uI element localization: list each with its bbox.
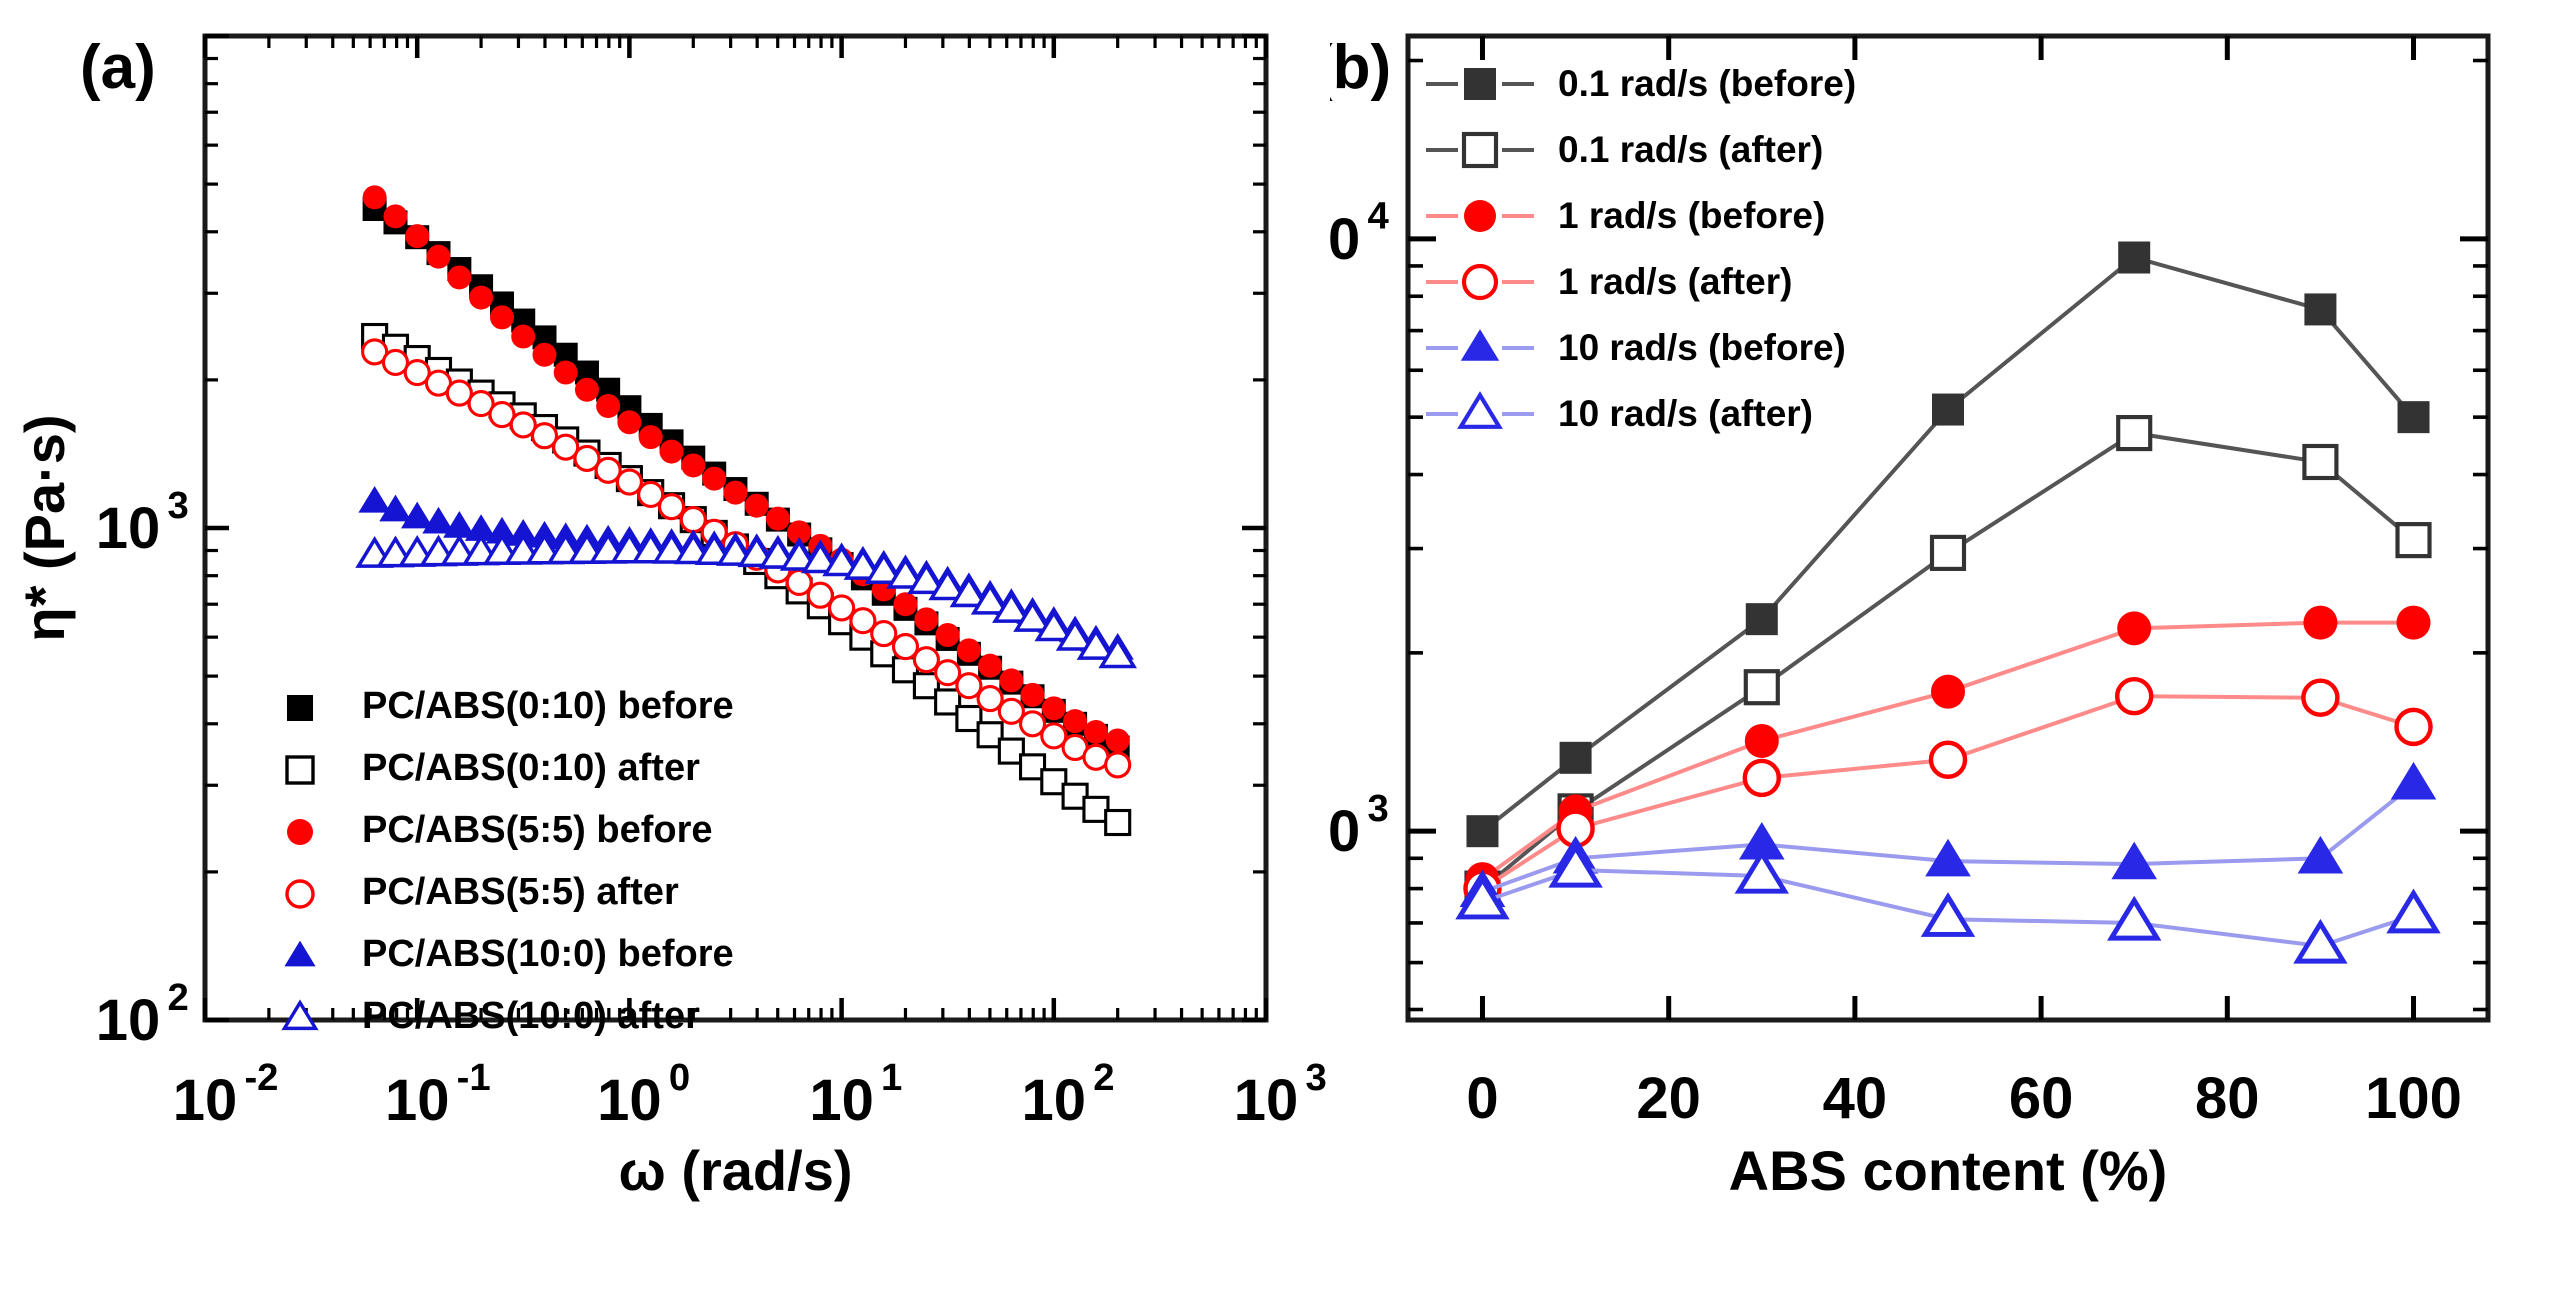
point [1932, 394, 1964, 426]
legend-marker-a-5 [284, 1003, 315, 1029]
series-2-a [363, 185, 1130, 752]
svg-text:10: 10 [1330, 799, 1360, 864]
svg-text:3: 3 [167, 484, 188, 527]
legend-label-b-2: 1 rad/s (before) [1558, 195, 1825, 236]
legend-marker-b-1 [1464, 134, 1496, 166]
point [2398, 401, 2430, 433]
point [2304, 446, 2336, 478]
point [978, 687, 1002, 711]
point [1042, 696, 1066, 720]
point [1746, 671, 1778, 703]
point [426, 245, 450, 269]
legend-label-b-4: 10 rad/s (before) [1558, 327, 1846, 368]
x-tick-labels-b: 020406080100 [1466, 1066, 2462, 1131]
legend-marker-b-4 [1461, 329, 1499, 361]
legend-label-b-3: 1 rad/s (after) [1558, 261, 1792, 302]
x-tick-a-4: 102 [1022, 1056, 1115, 1133]
point [2391, 893, 2437, 931]
point [2304, 293, 2336, 325]
data-series-a [358, 185, 1133, 834]
point [1021, 683, 1045, 707]
x-tick-a-2: 100 [597, 1056, 690, 1133]
point [469, 286, 493, 310]
point [957, 638, 981, 662]
svg-text:10: 10 [1022, 1068, 1087, 1133]
series-4-b [1460, 762, 2437, 907]
panel-b-label: (b) [1330, 33, 1391, 102]
point [914, 648, 938, 672]
point [1746, 603, 1778, 635]
point [2117, 611, 2151, 645]
svg-text:10: 10 [385, 1068, 450, 1133]
legend-marker-a-4 [284, 941, 315, 967]
point [978, 654, 1002, 678]
legend-label-a-2: PC/ABS(5:5) before [362, 809, 713, 851]
legend-label-a-3: PC/ABS(5:5) after [362, 871, 679, 913]
panel-b-svg: (b)020406080100103104ABS content (%)η* (… [1330, 0, 2550, 1302]
svg-text:10: 10 [1330, 207, 1360, 272]
point [447, 265, 471, 289]
legend-marker-b-3 [1464, 266, 1496, 298]
point [872, 622, 896, 646]
legend-marker-a-1 [287, 757, 313, 783]
point [2111, 901, 2157, 939]
legend-marker-a-3 [287, 881, 313, 907]
point [957, 674, 981, 698]
svg-text:3: 3 [1367, 787, 1388, 830]
svg-text:-2: -2 [244, 1056, 278, 1099]
point [490, 305, 514, 329]
panel-b: (b)020406080100103104ABS content (%)η* (… [1330, 0, 2550, 1302]
point [893, 592, 917, 616]
svg-text:4: 4 [1367, 195, 1389, 238]
figure-container: (a)10-210-1100101102103102103ω (rad/s)η*… [0, 0, 2550, 1302]
panel-a: (a)10-210-1100101102103102103ω (rad/s)η*… [0, 0, 1330, 1302]
legend-a: PC/ABS(0:10) beforePC/ABS(0:10) afterPC/… [284, 685, 733, 1037]
point [405, 224, 429, 248]
svg-text:10: 10 [96, 988, 161, 1053]
point [532, 343, 556, 367]
point [1745, 761, 1779, 795]
y-tick-labels-b: 103104 [1330, 195, 1389, 865]
point [575, 378, 599, 402]
point [596, 394, 620, 418]
point [2391, 762, 2437, 800]
x-tick-a-5: 103 [1234, 1056, 1327, 1133]
point [723, 481, 747, 505]
point [2111, 842, 2157, 880]
legend-label-b-1: 0.1 rad/s (after) [1558, 129, 1823, 170]
point [1931, 675, 1965, 709]
x-tick-b-2: 40 [1823, 1066, 1888, 1131]
y-tick-b-1: 104 [1330, 195, 1389, 272]
legend-label-b-0: 0.1 rad/s (before) [1558, 63, 1856, 104]
point [511, 325, 535, 349]
legend-marker-a-0 [287, 695, 313, 721]
point [358, 486, 390, 513]
point [660, 495, 684, 519]
point [2303, 606, 2337, 640]
point [830, 596, 854, 620]
point [936, 623, 960, 647]
point [639, 425, 663, 449]
x-tick-b-1: 20 [1636, 1066, 1701, 1131]
point [745, 494, 769, 518]
point [999, 668, 1023, 692]
point [766, 507, 790, 531]
svg-text:2: 2 [1093, 1056, 1114, 1099]
svg-text:0: 0 [669, 1056, 690, 1099]
point [1560, 742, 1592, 774]
svg-text:2: 2 [167, 976, 188, 1019]
point [617, 410, 641, 434]
x-tick-b-0: 0 [1466, 1066, 1498, 1131]
point [702, 467, 726, 491]
point [2397, 710, 2431, 744]
svg-text:1: 1 [881, 1056, 902, 1099]
point [1063, 709, 1087, 733]
point [2118, 242, 2150, 274]
point [1466, 815, 1498, 847]
legend-label-a-0: PC/ABS(0:10) before [362, 685, 734, 727]
point [554, 361, 578, 385]
legend-marker-b-0 [1464, 68, 1496, 100]
x-axis-title-a: ω (rad/s) [618, 1139, 852, 1202]
point [1106, 753, 1130, 777]
panel-a-label: (a) [80, 33, 156, 102]
x-tick-a-3: 101 [809, 1056, 902, 1133]
y-axis-title-a: η* (Pa·s) [13, 414, 76, 641]
legend-label-a-4: PC/ABS(10:0) before [362, 933, 734, 975]
svg-text:10: 10 [173, 1068, 238, 1133]
series-line-b-1 [1482, 433, 2413, 889]
svg-text:10: 10 [1234, 1068, 1299, 1133]
svg-text:10: 10 [597, 1068, 662, 1133]
svg-text:10: 10 [809, 1068, 874, 1133]
point [2398, 524, 2430, 556]
point [2298, 836, 2344, 874]
point [1925, 839, 1971, 877]
panel-a-svg: (a)10-210-1100101102103102103ω (rad/s)η*… [0, 0, 1330, 1302]
point [2118, 417, 2150, 449]
point [681, 453, 705, 477]
y-tick-a-1: 103 [96, 484, 189, 561]
legend-b: 0.1 rad/s (before)0.1 rad/s (after)1 rad… [1426, 63, 1856, 434]
x-tick-a-0: 10-2 [173, 1056, 279, 1133]
y-tick-a-0: 102 [96, 976, 189, 1053]
y-tick-b-0: 103 [1330, 787, 1389, 864]
x-tick-b-5: 100 [2365, 1066, 2462, 1131]
point [936, 661, 960, 685]
svg-text:-1: -1 [457, 1056, 491, 1099]
legend-marker-b-2 [1464, 200, 1496, 232]
legend-marker-b-5 [1461, 395, 1499, 427]
point [2397, 606, 2431, 640]
x-tick-b-4: 80 [2195, 1066, 2260, 1131]
series-1-b [1466, 417, 2429, 905]
point [1931, 743, 1965, 777]
svg-text:3: 3 [1305, 1056, 1326, 1099]
point [914, 607, 938, 631]
point [363, 185, 387, 209]
point [1106, 728, 1130, 752]
x-tick-labels-a: 10-210-1100101102103 [173, 1056, 1327, 1133]
legend-label-b-5: 10 rad/s (after) [1558, 393, 1813, 434]
point [1084, 720, 1108, 744]
point [2117, 679, 2151, 713]
point [1106, 811, 1130, 835]
point [660, 440, 684, 464]
point [1932, 537, 1964, 569]
legend-label-a-1: PC/ABS(0:10) after [362, 747, 700, 789]
svg-text:10: 10 [96, 496, 161, 561]
point [2303, 681, 2337, 715]
point [383, 204, 407, 228]
legend-label-a-5: PC/ABS(10:0) after [362, 995, 700, 1037]
y-tick-labels-a: 102103 [96, 484, 189, 1053]
x-tick-a-1: 10-1 [385, 1056, 491, 1133]
legend-marker-a-2 [287, 819, 313, 845]
x-tick-b-3: 60 [2009, 1066, 2074, 1131]
point [1745, 724, 1779, 758]
x-axis-title-b: ABS content (%) [1729, 1139, 2168, 1202]
